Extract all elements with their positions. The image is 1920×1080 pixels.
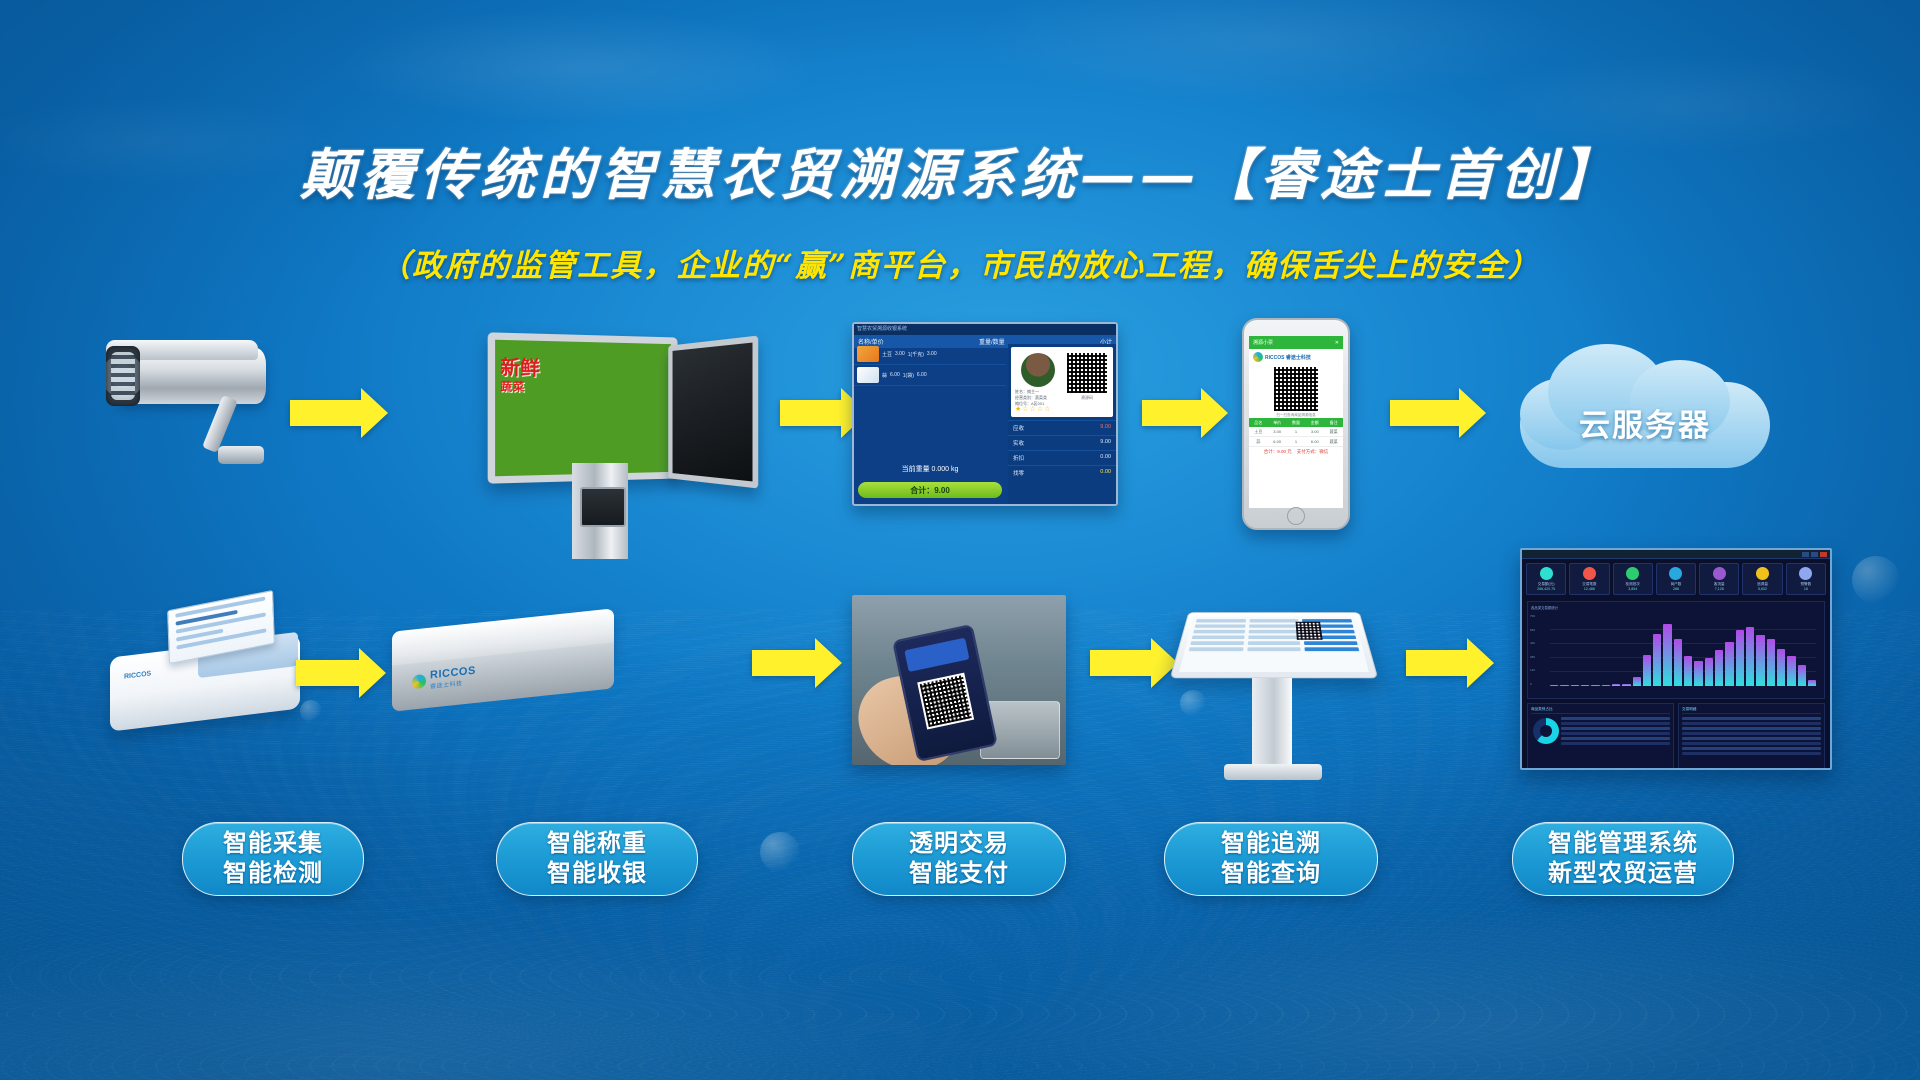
chart-bar [1787, 656, 1795, 686]
chart-bar [1571, 685, 1579, 686]
item-name: 蒜 [882, 372, 887, 379]
kpi-bubble-icon [1713, 567, 1726, 580]
arrow-kiosk-to-dashboard [1406, 650, 1468, 676]
kiosk-base [1224, 764, 1322, 780]
device-residue-detector: RICCOS [110, 600, 310, 740]
weight-value: 0.000 [932, 466, 950, 473]
poster-canvas: 颠覆传统的智慧农贸溯源系统——【睿途士首创】 （政府的监管工具，企业的“赢”商平… [0, 0, 1920, 1080]
kiosk-list-col [1246, 619, 1303, 668]
brand-logo: RICCOS 睿途士科技 [1249, 349, 1343, 365]
arrow-phone-to-cloud [1390, 400, 1460, 426]
device-self-service-kiosk [1180, 598, 1370, 788]
donut-chart [1533, 718, 1559, 744]
pill-line-1: 智能追溯 [1221, 829, 1321, 859]
chart-bar [1715, 650, 1723, 686]
chart-bar [1674, 639, 1682, 686]
panel-title: 商品类别占比 [1531, 707, 1670, 714]
device-pos-scale: 新鲜 蔬菜 [480, 325, 780, 645]
kpi-card[interactable]: 检测批次3,854 [1613, 563, 1653, 595]
maximize-icon[interactable] [1811, 552, 1818, 557]
app-bar-title: 溯源小票 [1253, 339, 1273, 346]
pill-line-2: 智能收银 [547, 859, 647, 889]
chart-bar [1705, 658, 1713, 686]
page-title: 颠覆传统的智慧农贸溯源系统——【睿途士首创】 [0, 130, 1920, 210]
pos-operator-display [668, 335, 758, 488]
item-amount: 6.00 [917, 372, 927, 378]
receipt-row: 土豆 3.00 1 3.00 蔬菜 [1249, 427, 1343, 437]
chart-bar [1622, 684, 1630, 686]
current-weight: 当前重量 0.000 kg [858, 464, 1002, 474]
avatar [1021, 353, 1055, 387]
chart-bar [1612, 684, 1620, 686]
chart-bar [1756, 635, 1764, 686]
kpi-bubble-icon [1626, 567, 1639, 580]
stage-pill-manage[interactable]: 智能管理系统 新型农贸运营 [1512, 822, 1734, 896]
item-qty: 1(袋) [903, 372, 914, 379]
weight-label: 当前重量 [902, 466, 930, 473]
page-subtitle: （政府的监管工具，企业的“赢”商平台，市民的放心工程，确保舌尖上的安全） [0, 240, 1920, 285]
chart-bar [1560, 685, 1568, 686]
receipt-printer [580, 487, 626, 527]
camera-mount [218, 446, 264, 464]
kiosk-stand [1252, 678, 1292, 770]
chart-bars [1550, 616, 1816, 686]
chart-bar [1643, 655, 1651, 686]
kpi-card[interactable]: 客流量7,128 [1699, 563, 1739, 595]
pill-line-2: 智能检测 [223, 859, 323, 889]
cloud-label: 云服务器 [1520, 400, 1770, 445]
qr-code-icon [1065, 351, 1109, 395]
pos-customer-display: 新鲜 蔬菜 [488, 332, 678, 483]
stage-pill-trade[interactable]: 透明交易 智能支付 [852, 822, 1066, 896]
chart-bar [1736, 630, 1744, 686]
kpi-card[interactable]: 交易额(元)258,420.75 [1526, 563, 1566, 595]
amount-row: 折扣0.00 [1008, 450, 1116, 465]
kpi-row: 交易额(元)258,420.75 交易笔数12,486 检测批次3,854 商户… [1522, 559, 1830, 599]
receipt-table-header: 品名 单价 数量 金额 备注 [1249, 418, 1343, 427]
chart-bar [1653, 634, 1661, 686]
kiosk-screen[interactable] [1179, 617, 1369, 672]
cart-total-button[interactable]: 合计： 9.00 [858, 482, 1002, 498]
pill-line-2: 新型农贸运营 [1548, 859, 1698, 889]
receipt-row: 蒜 6.00 1 6.00 蔬菜 [1249, 437, 1343, 447]
arrow-scalebase-to-photo [752, 650, 816, 676]
pill-line-1: 智能称重 [547, 829, 647, 859]
logo-mark-icon [1253, 352, 1263, 362]
photo-phone-header [904, 638, 969, 672]
pill-line-2: 智能支付 [909, 859, 1009, 889]
bar-chart: 各品类交易额统计 7005604202801400 [1527, 601, 1825, 699]
cart-item[interactable]: 蒜 6.00 1(袋) 6.00 [854, 365, 1006, 386]
chart-bar [1581, 685, 1589, 686]
qr-code-icon [1274, 367, 1318, 411]
device-phone-trace: 溯源小票 ✕ RICCOS 睿途士科技 扫一扫查询商品溯源信息 品名 单价 数量… [1242, 318, 1348, 530]
arrow-scale-to-cashier [780, 400, 842, 426]
item-thumbnail [857, 346, 879, 362]
chart-bar [1694, 661, 1702, 686]
cloud-server: 云服务器 [1520, 338, 1770, 478]
legend-list [1561, 714, 1670, 748]
item-price: 3.00 [895, 351, 905, 357]
minimize-icon[interactable] [1802, 552, 1809, 557]
photo-scan-payment [852, 595, 1066, 767]
qr-code-icon [1296, 622, 1323, 640]
chart-bar [1591, 685, 1599, 686]
smartphone-body: 溯源小票 ✕ RICCOS 睿途士科技 扫一扫查询商品溯源信息 品名 单价 数量… [1242, 318, 1350, 530]
kpi-bubble-icon [1669, 567, 1682, 580]
cashier-titlebar: 智慧农贸溯源收银系统 [854, 324, 1116, 335]
y-axis-ticks: 7005604202801400 [1530, 614, 1548, 686]
kpi-bubble-icon [1583, 567, 1596, 580]
chart-bar [1767, 639, 1775, 686]
logo-mark-icon [412, 673, 426, 688]
arrow-detector-to-scalebase [296, 660, 360, 686]
close-icon[interactable]: ✕ [1335, 340, 1339, 346]
item-thumbnail [857, 367, 879, 383]
kpi-card[interactable]: 追溯量5,602 [1742, 563, 1782, 595]
close-icon[interactable] [1820, 552, 1827, 557]
dashboard-window: 交易额(元)258,420.75 交易笔数12,486 检测批次3,854 商户… [1520, 548, 1832, 770]
arrow-photo-to-kiosk [1090, 650, 1152, 676]
arrow-camera-to-scale [290, 400, 362, 426]
camera-ir-ring [111, 352, 135, 400]
panel-title: 交易明细 [1682, 707, 1821, 714]
dashboard-panels: 商品类别占比 交易明细 [1522, 699, 1830, 770]
kpi-card[interactable]: 预警数18 [1786, 563, 1826, 595]
chart-bar [1798, 665, 1806, 686]
pill-line-1: 智能管理系统 [1548, 829, 1698, 859]
vendor-card: 姓名：摊主一 经营类别：蔬菜类 摊位号：A区001 ★☆☆☆☆ 溯源码 [1011, 347, 1113, 417]
qr-code-icon [917, 673, 974, 730]
stage-pill-trace[interactable]: 智能追溯 智能查询 [1164, 822, 1378, 896]
arrow-cashier-to-phone [1142, 400, 1202, 426]
chart-bar [1808, 680, 1816, 686]
receipt-footer: 合计：9.00 元 支付方式：微信 [1249, 447, 1343, 457]
table-rows[interactable] [1682, 714, 1821, 755]
rating-stars: ★☆☆☆☆ [1015, 407, 1061, 413]
chart-title: 各品类交易额统计 [1531, 605, 1558, 610]
chart-bar [1602, 685, 1610, 686]
scale-base: RICCOS 睿途士科技 [386, 600, 636, 740]
kpi-card[interactable]: 商户数286 [1656, 563, 1696, 595]
chart-bar [1746, 627, 1754, 686]
ad-headline: 新鲜 蔬菜 [500, 358, 539, 397]
item-price: 6.00 [890, 372, 900, 378]
kpi-bubble-icon [1540, 567, 1553, 580]
kpi-bubble-icon [1799, 567, 1812, 580]
cashier-screen: 智慧农贸溯源收银系统 名称/单价 重量/数量 小计 土豆 3.00 1(千克) … [852, 322, 1114, 504]
weight-unit: kg [951, 466, 958, 473]
stage-pill-collect[interactable]: 智能采集 智能检测 [182, 822, 364, 896]
phone-screen[interactable]: 溯源小票 ✕ RICCOS 睿途士科技 扫一扫查询商品溯源信息 品名 单价 数量… [1249, 336, 1343, 508]
item-qty: 1(千克) [908, 351, 924, 358]
kiosk-touch-panel[interactable] [1170, 612, 1378, 678]
amount-row: 实收9.00 [1008, 435, 1116, 450]
chart-bar [1684, 656, 1692, 686]
cart-item[interactable]: 土豆 3.00 1(千克) 3.00 [854, 344, 1006, 365]
total-label: 合计： [910, 485, 934, 496]
total-value: 9.00 [934, 486, 950, 495]
kiosk-list-col [1184, 619, 1245, 668]
cart-list[interactable]: 土豆 3.00 1(千克) 3.00 蒜 6.00 1(袋) 6.00 当前重量… [854, 344, 1006, 504]
photo-frame [852, 595, 1066, 765]
chart-bar [1725, 642, 1733, 686]
chart-bar [1633, 677, 1641, 686]
vendor-panel: 姓名：摊主一 经营类别：蔬菜类 摊位号：A区001 ★☆☆☆☆ 溯源码 应收9.… [1008, 344, 1116, 504]
stage-pill-weigh[interactable]: 智能称重 智能收银 [496, 822, 698, 896]
amount-row: 找零0.00 [1008, 465, 1116, 480]
pill-line-2: 智能查询 [1221, 859, 1321, 889]
item-name: 土豆 [882, 351, 892, 358]
cashier-window: 智慧农贸溯源收银系统 名称/单价 重量/数量 小计 土豆 3.00 1(千克) … [852, 322, 1118, 506]
panel-transaction-detail: 交易明细 [1678, 703, 1825, 770]
chart-bar [1663, 624, 1671, 686]
vendor-info: 姓名：摊主一 经营类别：蔬菜类 摊位号：A区001 ★☆☆☆☆ [1015, 389, 1061, 413]
kpi-bubble-icon [1756, 567, 1769, 580]
phone-app-bar: 溯源小票 ✕ [1249, 336, 1343, 349]
panel-category-share: 商品类别占比 [1527, 703, 1674, 770]
device-camera [100, 330, 280, 480]
pill-line-1: 智能采集 [223, 829, 323, 859]
home-button-icon[interactable] [1287, 507, 1305, 525]
qr-caption: 溯源码 [1065, 395, 1109, 401]
amount-row: 应收9.00 [1008, 420, 1116, 435]
dashboard-monitor: 交易额(元)258,420.75 交易笔数12,486 检测批次3,854 商户… [1520, 548, 1830, 768]
pill-line-1: 透明交易 [909, 829, 1009, 859]
chart-bar [1777, 649, 1785, 686]
kpi-card[interactable]: 交易笔数12,486 [1569, 563, 1609, 595]
item-amount: 3.00 [927, 351, 937, 357]
chart-bar [1550, 685, 1558, 686]
window-titlebar [1522, 550, 1830, 559]
